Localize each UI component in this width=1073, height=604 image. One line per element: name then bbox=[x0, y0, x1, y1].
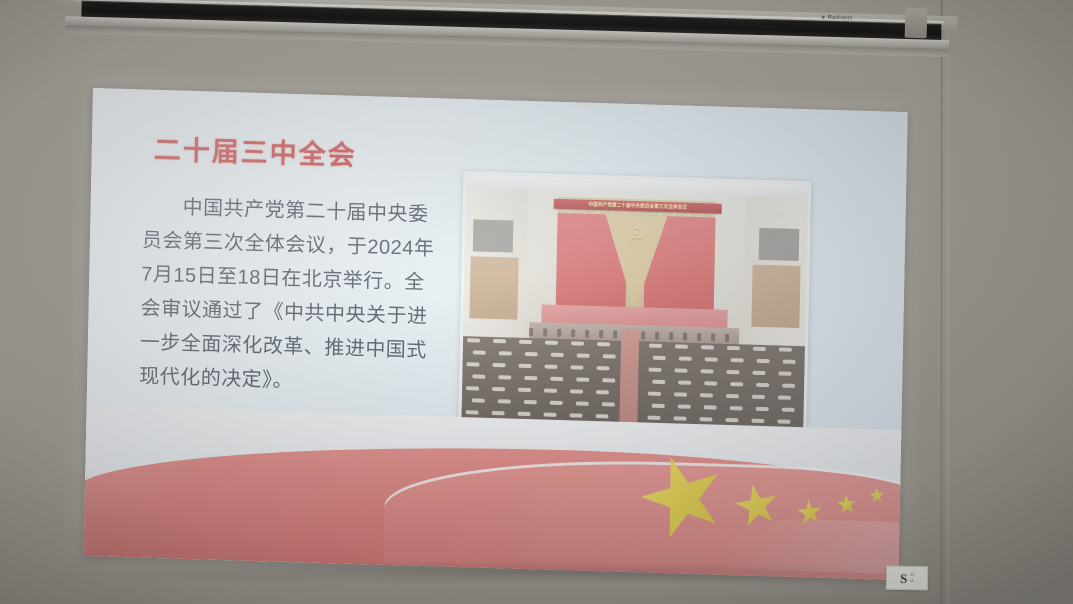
photo-scene: Radiant 二十届三中全会 中国共产党第二十届中央委员会第三次全体会议，于2… bbox=[0, 0, 1073, 604]
scene-vignette bbox=[0, 0, 1073, 604]
